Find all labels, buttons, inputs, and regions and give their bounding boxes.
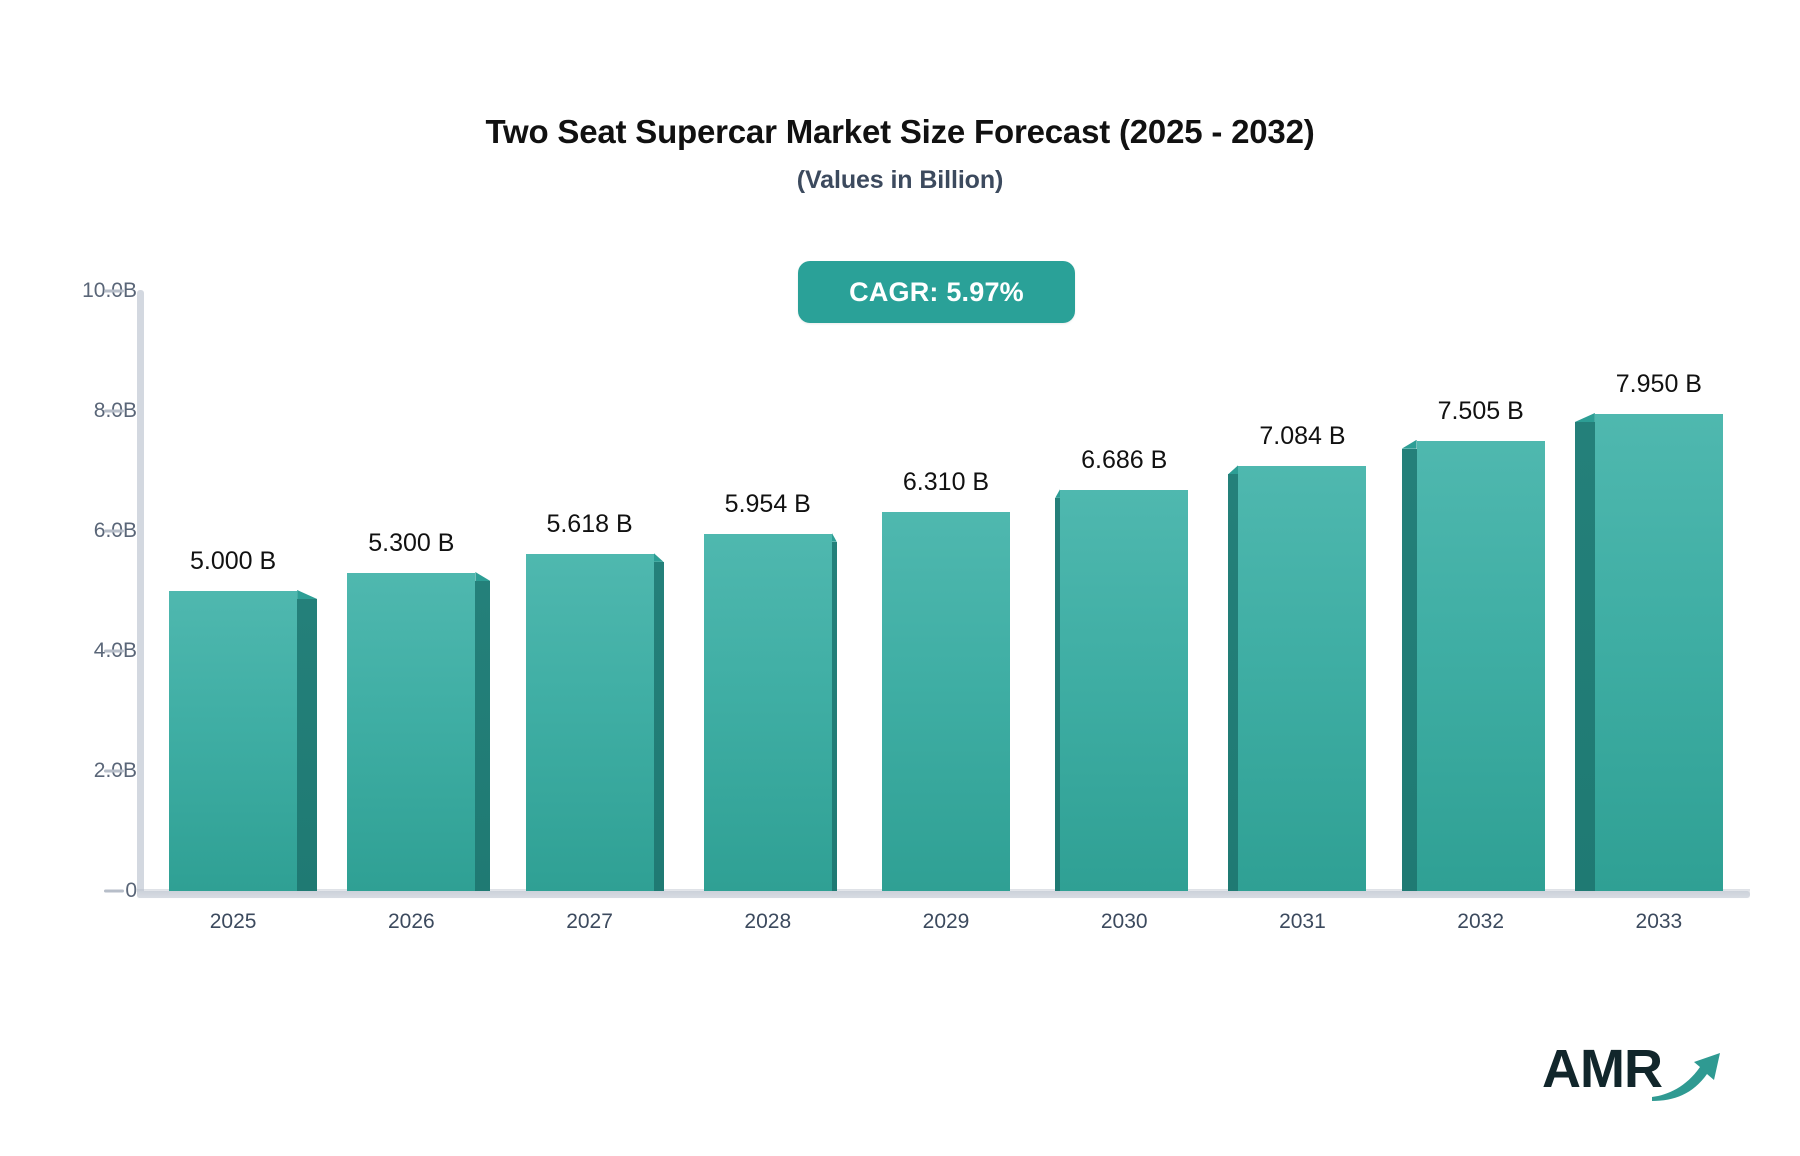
x-axis-tick-label: 2033: [1636, 910, 1683, 934]
bar-side-face: [1575, 422, 1595, 891]
growth-arrow-icon: [1650, 1047, 1724, 1103]
bar-value-label: 7.950 B: [1616, 370, 1702, 399]
bar-top-face: [1575, 413, 1595, 422]
amr-logo-text: AMR: [1542, 1041, 1662, 1097]
bar-2033[interactable]: 7.950 B2033: [0, 0, 1800, 1156]
plot-area: 10.0B8.0B6.0B4.0B2.0B05.000 B20255.300 B…: [0, 0, 1800, 1156]
amr-logo: AMR: [1542, 1041, 1722, 1107]
chart-canvas: Two Seat Supercar Market Size Forecast (…: [0, 0, 1800, 1156]
bar-front-face: [1595, 414, 1723, 891]
